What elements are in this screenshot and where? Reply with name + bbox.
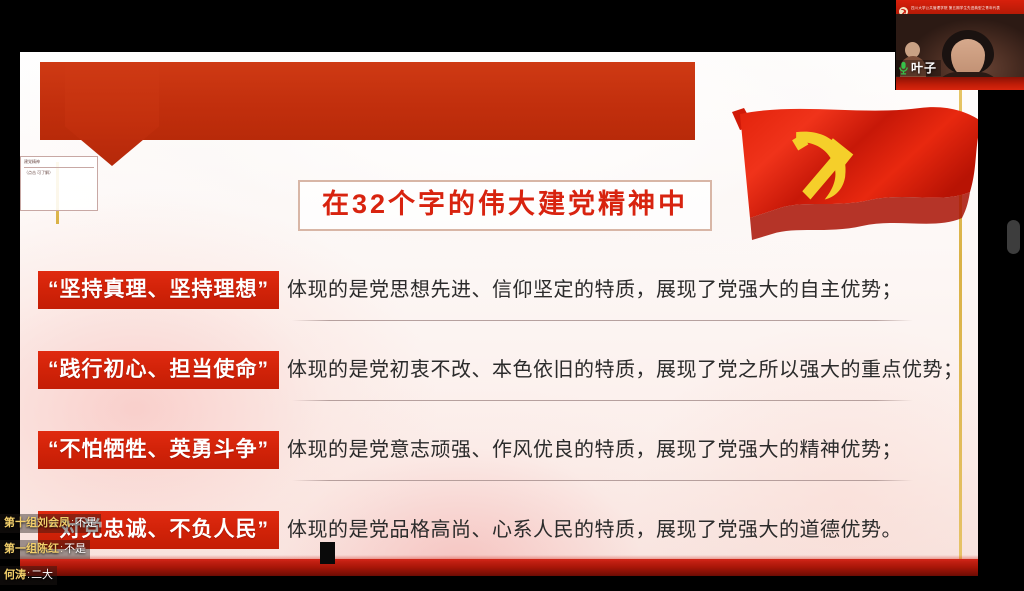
pennant-fill [65,62,159,166]
content-row: “不怕牺牲、英勇斗争” 体现的是党意志顽强、作风优良的特质，展现了党强大的精神优… [30,410,935,490]
annotation-popup-line: （点击 可了解） [24,170,94,176]
video-red-foreground [896,77,1024,90]
row-tag-label: “践行初心、担当使命” [38,351,279,389]
communist-party-flag-icon [710,100,978,260]
row-tag-label: “不怕牺牲、英勇斗争” [38,431,279,469]
row-body-text: 体现的是党意志顽强、作风优良的特质，展现了党强大的精神优势； [279,438,935,463]
screen-share-view: 在32个字的伟大建党精神中 “坚持真理、坚持理想” 体现的是党思想先进、信仰坚定… [0,0,1024,591]
row-tag-label: “对党忠诚、不负人民” [38,511,279,549]
right-letterbox-gutter [1000,90,1024,591]
slide-bottom-notch [320,542,335,564]
party-emblem-icon [899,3,908,12]
top-letterbox-gutter [0,0,895,10]
presentation-slide: 在32个字的伟大建党精神中 “坚持真理、坚持理想” 体现的是党思想先进、信仰坚定… [20,52,978,576]
pennant-shape-icon [65,62,159,166]
row-tag-label: “坚持真理、坚持理想” [38,271,279,309]
participant-name-badge: 叶子 [896,60,941,76]
slide-title: 在32个字的伟大建党精神中 [322,191,688,218]
row-body-text: 体现的是党思想先进、信仰坚定的特质，展现了党强大的自主优势； [279,278,935,303]
vertical-scrollbar-thumb[interactable] [1007,220,1020,254]
slide-title-plate: 在32个字的伟大建党精神中 [298,180,712,231]
row-divider [292,400,913,401]
left-letterbox-gutter [0,0,20,591]
video-feed-stage [896,14,1024,90]
row-divider [292,320,913,321]
row-body-text: 体现的是党初衷不改、本色依旧的特质，展现了党之所以强大的重点优势； [279,358,964,383]
microphone-icon[interactable] [898,61,909,75]
content-row: “坚持真理、坚持理想” 体现的是党思想先进、信仰坚定的特质，展现了党强大的自主优… [30,250,935,330]
participant-video-thumbnail[interactable]: 四川大学公共管理学院 第五期学生先进典型之青年代表 [895,0,1024,90]
content-rows: “坚持真理、坚持理想” 体现的是党思想先进、信仰坚定的特质，展现了党强大的自主优… [30,250,935,570]
row-divider [292,480,913,481]
slide-bottom-red-strip [20,559,978,576]
row-body-text: 体现的是党品格高尚、心系人民的特质，展现了党强大的道德优势。 [279,518,935,543]
slide-annotation-popup[interactable]: 建党精神 （点击 可了解） [20,156,98,211]
video-overlay-banner: 四川大学公共管理学院 第五期学生先进典型之青年代表 [896,0,1024,14]
annotation-popup-header: 建党精神 [24,159,94,168]
content-row: “践行初心、担当使命” 体现的是党初衷不改、本色依旧的特质，展现了党之所以强大的… [30,330,935,410]
video-banner-title: 四川大学公共管理学院 第五期学生先进典型之青年代表 [911,4,1000,9]
participant-name: 叶子 [911,62,937,74]
